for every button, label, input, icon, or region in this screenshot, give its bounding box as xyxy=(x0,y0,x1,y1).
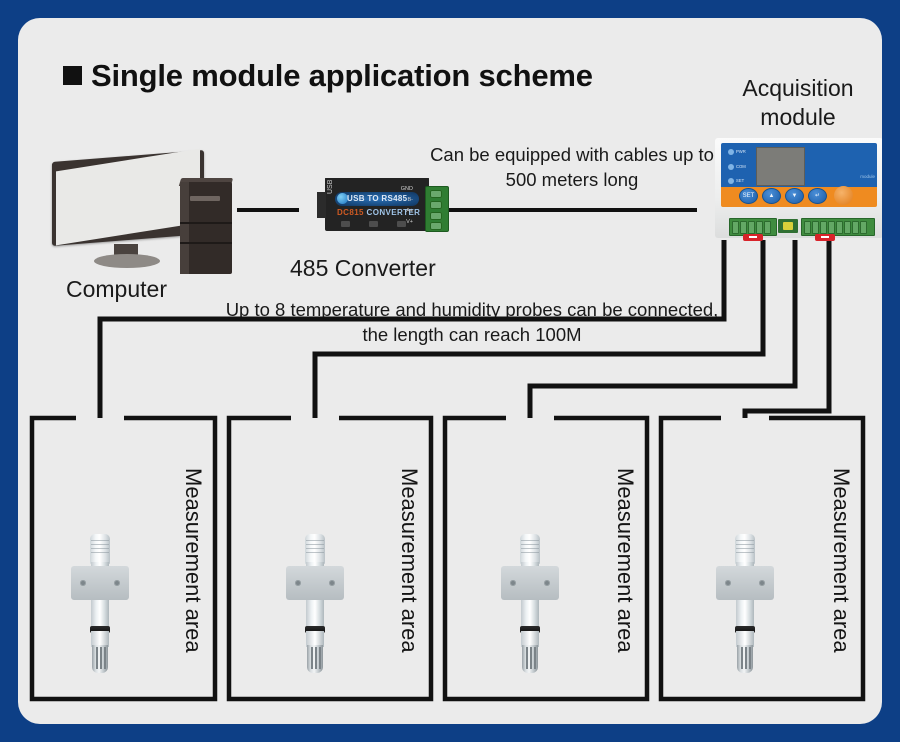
wire-module-to-probe-4 xyxy=(745,240,829,418)
module-din-clip-left xyxy=(743,234,763,241)
converter-led-1 xyxy=(341,221,350,227)
converter-terminal-block xyxy=(425,186,449,232)
module-led-set xyxy=(728,178,734,184)
terminal-label-a: A+ xyxy=(406,208,413,214)
measurement-area-label-4: Measurement area xyxy=(828,468,854,653)
converter-screw-4 xyxy=(430,222,442,230)
module-up-button[interactable]: ▲ xyxy=(762,188,781,204)
usb-port xyxy=(317,192,326,218)
converter-model: DC815 xyxy=(337,208,364,217)
measurement-area-label-1: Measurement area xyxy=(180,468,206,653)
tower-side-panel xyxy=(180,182,189,274)
tower-divider-lower xyxy=(180,242,232,244)
sensor-probe-2 xyxy=(281,534,349,674)
module-enter-button[interactable]: ↵ xyxy=(808,188,827,204)
module-led-pwr xyxy=(728,149,734,155)
tower-drive-slot xyxy=(190,196,220,201)
probe-screw-hole-right xyxy=(114,580,120,586)
converter-led-row xyxy=(341,221,413,229)
sensor-probe-1 xyxy=(66,534,134,674)
wire-module-to-probe-2 xyxy=(315,240,763,418)
measurement-area-label-2: Measurement area xyxy=(396,468,422,653)
module-lcd-display xyxy=(756,147,805,186)
converter-screw-1 xyxy=(430,190,442,198)
terminal-label-v: V+ xyxy=(406,219,413,225)
converter-led-2 xyxy=(369,221,378,227)
desktop-computer xyxy=(52,156,232,276)
tower-divider-upper xyxy=(180,222,232,224)
module-brand-text: module xyxy=(860,174,875,179)
probe-cap xyxy=(90,534,110,564)
probe-screw-hole-left xyxy=(80,580,86,586)
converter-led-3 xyxy=(397,221,406,227)
module-set-button[interactable]: SET xyxy=(739,188,758,204)
acquisition-module-device: PWR COM SET SET ▲ ▼ ↵ module xyxy=(715,138,882,256)
monitor-base xyxy=(94,254,160,268)
module-din-clip-right xyxy=(815,234,835,241)
sensor-probe-4 xyxy=(711,534,779,674)
measurement-area-label-3: Measurement area xyxy=(612,468,638,653)
converter-screw-2 xyxy=(430,201,442,209)
wire-module-to-probe-3 xyxy=(530,240,795,418)
rs485-converter-device: USB USB TO RS485 DC815 CONVERTER GND B- … xyxy=(317,178,437,231)
sensor-probe-3 xyxy=(496,534,564,674)
module-center-chip xyxy=(783,222,793,230)
module-led-set-label: SET xyxy=(736,178,744,183)
outer-blue-frame: Single module application scheme Acquisi… xyxy=(0,0,900,742)
terminal-label-b: B- xyxy=(408,197,414,203)
usb-port-label: USB xyxy=(327,180,334,194)
module-buzzer-icon xyxy=(834,186,853,205)
module-led-com-label: COM xyxy=(736,164,746,169)
converter-screw-3 xyxy=(430,212,442,220)
terminal-label-gnd: GND xyxy=(401,186,413,192)
diagram-panel: Single module application scheme Acquisi… xyxy=(18,18,882,724)
module-terminal-block-right xyxy=(801,218,875,236)
monitor-screen xyxy=(56,149,200,246)
module-led-com xyxy=(728,164,734,170)
module-down-button[interactable]: ▼ xyxy=(785,188,804,204)
module-led-pwr-label: PWR xyxy=(736,149,746,154)
